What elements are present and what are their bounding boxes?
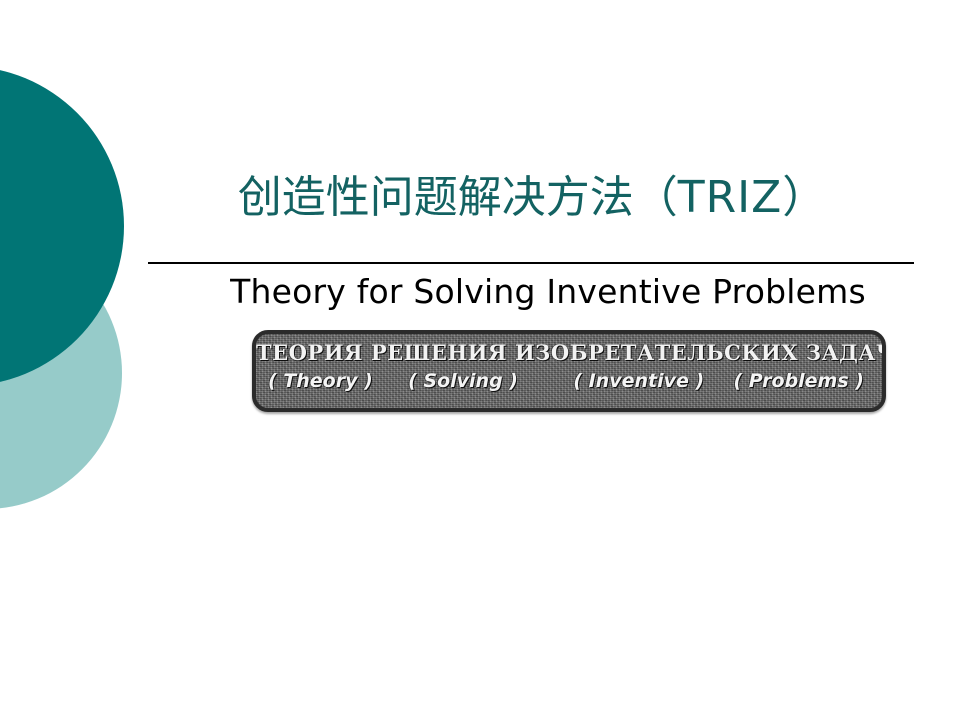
triz-gloss-inventive: ( Inventive ) [573, 370, 704, 392]
decorative-light-teal-circle [0, 237, 122, 509]
triz-gloss-theory: ( Theory ) [268, 370, 373, 392]
title-chinese-part: 创造性问题解决方法（ [238, 172, 678, 223]
slide-canvas: 创造性问题解决方法（TRIZ） Theory for Solving Inven… [0, 0, 960, 720]
slide-subtitle: Theory for Solving Inventive Problems [148, 272, 948, 311]
triz-gloss-row: ( Theory ) ( Solving ) ( Inventive ) ( P… [264, 370, 874, 392]
triz-gloss-problems: ( Problems ) [734, 370, 864, 392]
triz-figure-inner: ТЕОРИЯ РЕШЕНИЯ ИЗОБРЕТАТЕЛЬСКИХ ЗАДАЧ ( … [256, 334, 882, 408]
title-acronym: TRIZ [678, 172, 783, 223]
subtitle-block: Theory for Solving Inventive Problems [148, 272, 948, 311]
title-block: 创造性问题解决方法（TRIZ） [148, 174, 916, 222]
title-divider-rule [148, 262, 914, 264]
decorative-dark-teal-circle [0, 66, 124, 386]
title-chinese-close: ） [782, 172, 826, 223]
triz-russian-text: ТЕОРИЯ РЕШЕНИЯ ИЗОБРЕТАТЕЛЬСКИХ ЗАДАЧ [256, 340, 882, 365]
triz-acronym-figure: ТЕОРИЯ РЕШЕНИЯ ИЗОБРЕТАТЕЛЬСКИХ ЗАДАЧ ( … [252, 330, 886, 412]
slide-title: 创造性问题解决方法（TRIZ） [148, 174, 916, 222]
triz-gloss-solving: ( Solving ) [408, 370, 518, 392]
